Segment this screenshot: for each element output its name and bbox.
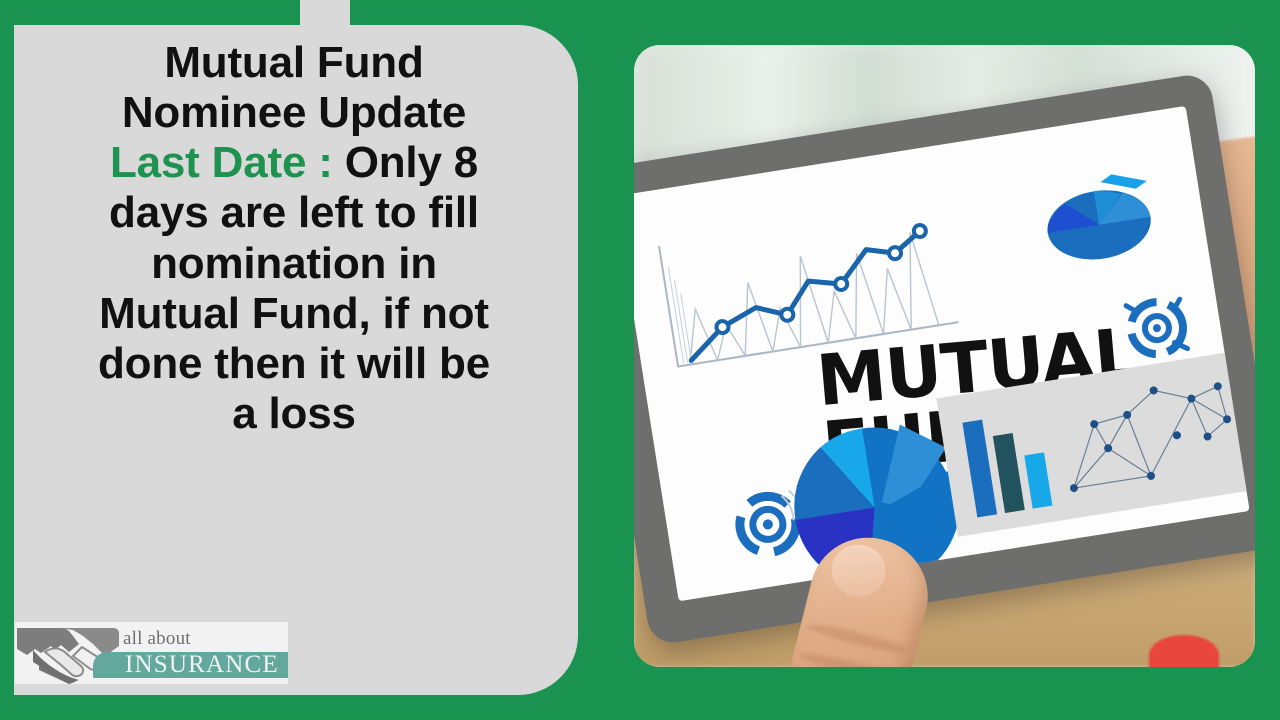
poster-canvas: Mutual Fund Nominee Update Last Date : O… [0, 0, 1280, 720]
pie-chart-exploded-top [1031, 149, 1174, 276]
headline-line-8: a loss [24, 389, 564, 439]
headline-line-1: Mutual Fund [24, 38, 564, 88]
network-graph [1049, 365, 1250, 509]
fingernail [826, 539, 891, 603]
logo-bottom-text: INSURANCE [125, 652, 279, 678]
headline-last-date-label: Last Date : [110, 138, 333, 187]
tablet-photo: MUTUAL FUNDS [634, 45, 1255, 667]
headline-line-3: Last Date : Only 8 [24, 138, 564, 188]
tablet-device: MUTUAL FUNDS [634, 72, 1255, 646]
knuckle-crease-1 [805, 620, 909, 657]
logo: all about INSURANCE [15, 622, 288, 684]
headline-line-6: Mutual Fund, if not [24, 289, 564, 339]
headline-line-7: done then it will be [24, 339, 564, 389]
headline-line-4: days are left to fill [24, 188, 564, 238]
logo-top-text: all about [123, 628, 191, 650]
headline-block: Mutual Fund Nominee Update Last Date : O… [24, 38, 564, 439]
red-object [1149, 635, 1219, 667]
headline-line-3-rest: Only 8 [333, 138, 478, 187]
headline-line-2: Nominee Update [24, 88, 564, 138]
bar-chart [957, 401, 1064, 518]
headline-line-5: nomination in [24, 239, 564, 289]
knuckle-crease-2 [798, 649, 902, 667]
